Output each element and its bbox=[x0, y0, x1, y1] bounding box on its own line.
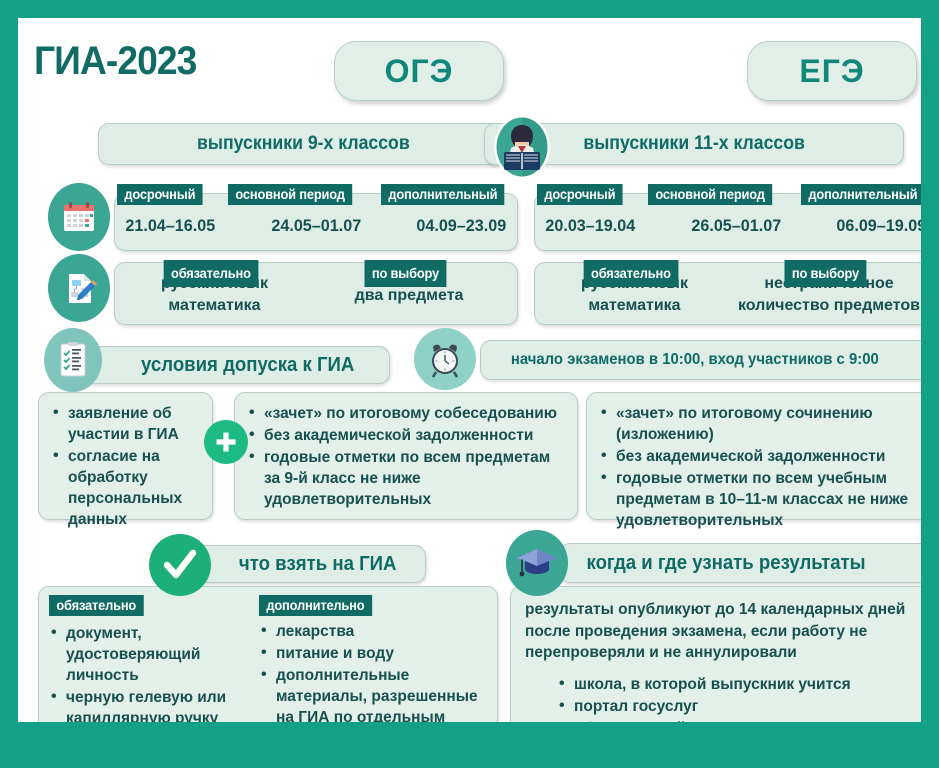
check-circle-icon bbox=[149, 534, 211, 596]
periods-box-ege: досрочный основной период дополнительный… bbox=[534, 193, 921, 251]
admission-common-list: заявление об участии в ГИА согласие на о… bbox=[51, 403, 200, 530]
list-item: официальный портал ОГЭ или ЕГЭ bbox=[557, 718, 921, 723]
infographic-poster: ГИА-2023 ОГЭ ЕГЭ выпускники 9-х классов … bbox=[0, 0, 939, 768]
page-title: ГИА-2023 bbox=[34, 39, 196, 84]
period-label: досрочный bbox=[537, 184, 623, 205]
subjects-optional-ege: по выбору неограниченное количество пред… bbox=[729, 273, 921, 317]
period-label: дополнительный bbox=[801, 184, 921, 205]
exam-pill-oge[interactable]: ОГЭ bbox=[334, 41, 504, 101]
list-item: «зачет» по итоговому собеседованию bbox=[247, 403, 565, 424]
alarm-clock-icon bbox=[414, 328, 476, 390]
periods-box-oge: досрочный основной период дополнительный… bbox=[114, 193, 518, 251]
period-label: дополнительный bbox=[381, 184, 505, 205]
period-value: 26.05–01.07 bbox=[691, 216, 781, 236]
header: ГИА-2023 ОГЭ ЕГЭ bbox=[18, 18, 921, 106]
take-extra-tag: дополнительно bbox=[259, 595, 372, 616]
admission-ege-list: «зачет» по итоговому сочинению (изложени… bbox=[599, 403, 921, 531]
calendar-icon bbox=[48, 183, 110, 251]
subjects-required-ege: обязательно русский язык математика bbox=[547, 273, 722, 317]
subject-item: количество предметов bbox=[729, 295, 921, 317]
list-item: черную гелевую или капиллярную ручку bbox=[49, 687, 249, 722]
list-item: годовые отметки по всем учебным предмета… bbox=[599, 468, 921, 531]
take-extra-list: лекарства питание и воду дополнительные … bbox=[259, 621, 487, 722]
periods-labels-oge: досрочный основной период дополнительный bbox=[115, 184, 517, 205]
list-item: без академической задолженности bbox=[247, 425, 565, 446]
take-extra-column: дополнительно лекарства питание и воду д… bbox=[259, 595, 487, 722]
admission-oge-box: «зачет» по итоговому собеседованию без а… bbox=[234, 392, 578, 520]
graduates-bar-9: выпускники 9-х классов bbox=[98, 123, 508, 165]
graduates-label-9: выпускники 9-х классов bbox=[197, 133, 410, 155]
admission-common-box: заявление об участии в ГИА согласие на о… bbox=[38, 392, 213, 520]
exam-time-note: начало экзаменов в 10:00, вход участнико… bbox=[511, 351, 879, 369]
exam-pill-oge-label: ОГЭ bbox=[385, 53, 454, 90]
exam-pill-ege[interactable]: ЕГЭ bbox=[747, 41, 917, 101]
subjects-optional-tag: по выбору bbox=[364, 260, 446, 287]
list-item: школа, в которой выпускник учится bbox=[557, 674, 921, 695]
exam-pill-ege-label: ЕГЭ bbox=[799, 53, 864, 90]
period-label: основной период bbox=[228, 184, 352, 205]
list-item: лекарства bbox=[259, 621, 487, 642]
subjects-required-oge: обязательно русский язык математика bbox=[127, 273, 302, 317]
admission-heading-pill: условия допуска к ГИА bbox=[78, 346, 390, 384]
results-heading: когда и где узнать результаты bbox=[587, 552, 866, 575]
subjects-optional-tag: по выбору bbox=[784, 260, 866, 287]
subject-item: два предмета bbox=[309, 285, 509, 307]
checklist-icon bbox=[44, 328, 102, 392]
periods-labels-ege: досрочный основной период дополнительный bbox=[535, 184, 921, 205]
admission-ege-box: «зачет» по итоговому сочинению (изложени… bbox=[586, 392, 921, 520]
exam-time-pill: начало экзаменов в 10:00, вход участнико… bbox=[480, 340, 921, 380]
results-heading-pill: когда и где узнать результаты bbox=[559, 543, 921, 583]
period-value: 20.03–19.04 bbox=[545, 216, 635, 236]
subjects-required-tag: обязательно bbox=[163, 260, 257, 287]
list-item: дополнительные материалы, разрешенные на… bbox=[259, 665, 487, 722]
period-value: 04.09–23.09 bbox=[417, 216, 507, 236]
take-required-tag: обязательно bbox=[49, 595, 143, 616]
subjects-box-oge: обязательно русский язык математика по в… bbox=[114, 262, 518, 325]
plus-circle-icon bbox=[204, 420, 248, 464]
period-value: 24.05–01.07 bbox=[271, 216, 361, 236]
admission-heading: условия допуска к ГИА bbox=[141, 354, 354, 377]
subject-item: математика bbox=[547, 295, 722, 317]
subject-item: математика bbox=[127, 295, 302, 317]
list-item: питание и воду bbox=[259, 643, 487, 664]
period-value: 06.09–19.09 bbox=[837, 216, 921, 236]
results-sources-list: школа, в которой выпускник учится портал… bbox=[525, 674, 921, 723]
period-label: досрочный bbox=[117, 184, 203, 205]
student-reading-icon bbox=[492, 114, 552, 180]
admission-oge-list: «зачет» по итоговому собеседованию без а… bbox=[247, 403, 565, 510]
poster-card: ГИА-2023 ОГЭ ЕГЭ выпускники 9-х классов … bbox=[18, 18, 921, 722]
take-box: обязательно документ, удостоверяющий лич… bbox=[38, 586, 498, 722]
list-item: заявление об участии в ГИА bbox=[51, 403, 200, 445]
list-item: годовые отметки по всем предметам за 9-й… bbox=[247, 447, 565, 510]
periods-values-ege: 20.03–19.04 26.05–01.07 06.09–19.09 bbox=[535, 216, 921, 236]
take-required-list: документ, удостоверяющий личность черную… bbox=[49, 623, 249, 722]
period-value: 21.04–16.05 bbox=[125, 216, 215, 236]
subjects-optional-oge: по выбору два предмета bbox=[309, 285, 509, 307]
list-item: без академической задолженности bbox=[599, 446, 921, 467]
graduation-cap-icon bbox=[506, 530, 568, 596]
list-item: согласие на обработку персональных данны… bbox=[51, 446, 200, 530]
list-item: «зачет» по итоговому сочинению (изложени… bbox=[599, 403, 921, 445]
take-required-column: обязательно документ, удостоверяющий лич… bbox=[49, 595, 249, 722]
period-label: основной период bbox=[648, 184, 772, 205]
periods-values-oge: 21.04–16.05 24.05–01.07 04.09–23.09 bbox=[115, 216, 517, 236]
graduates-label-11: выпускники 11-х классов bbox=[583, 133, 805, 155]
list-item: портал госуслуг bbox=[557, 696, 921, 717]
take-heading: что взять на ГИА bbox=[239, 553, 397, 576]
subjects-box-ege: обязательно русский язык математика по в… bbox=[534, 262, 921, 325]
list-item: документ, удостоверяющий личность bbox=[49, 623, 249, 686]
take-heading-pill: что взять на ГИА bbox=[178, 545, 426, 583]
results-box: результаты опубликуют до 14 календарных … bbox=[510, 586, 921, 722]
results-paragraph: результаты опубликуют до 14 календарных … bbox=[525, 599, 921, 664]
subjects-required-tag: обязательно bbox=[583, 260, 677, 287]
document-pencil-icon bbox=[48, 254, 110, 322]
